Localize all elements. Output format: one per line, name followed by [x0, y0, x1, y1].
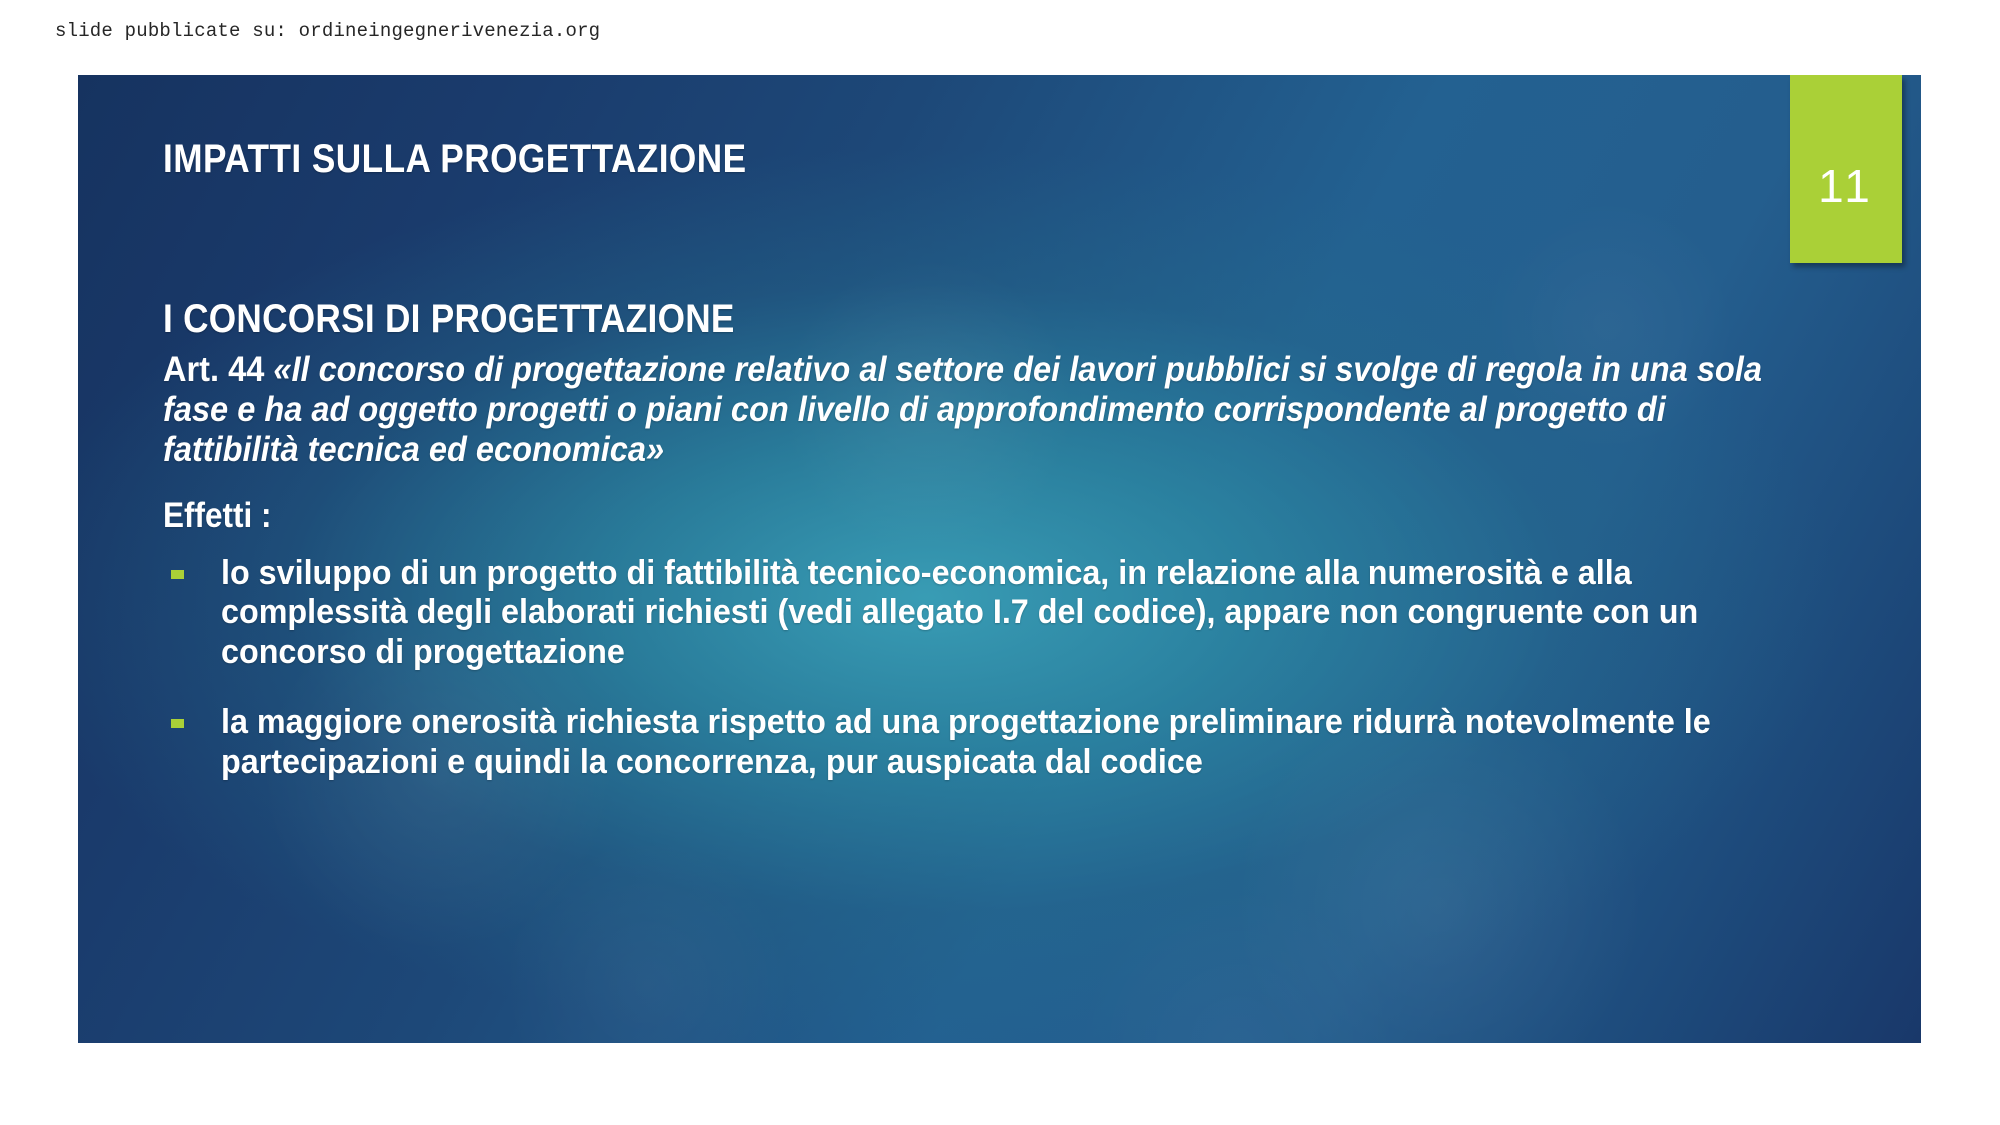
list-item-text: la maggiore onerosità richiesta rispetto…	[221, 703, 1779, 783]
bullet-square-icon	[171, 719, 184, 728]
slide-canvas: 11 IMPATTI SULLA PROGETTAZIONE I CONCORS…	[78, 75, 1921, 1043]
article-label: Art. 44	[163, 350, 273, 389]
effects-bullet-list: lo sviluppo di un progetto di fattibilit…	[163, 554, 1763, 783]
slide-title: IMPATTI SULLA PROGETTAZIONE	[163, 137, 1483, 182]
effects-label: Effetti :	[163, 496, 1603, 536]
list-item: lo sviluppo di un progetto di fattibilit…	[163, 554, 1861, 673]
article-paragraph: Art. 44 «Il concorso di progettazione re…	[163, 350, 1763, 470]
page-header-source-note: slide pubblicate su: ordineingegnerivene…	[55, 20, 600, 42]
bullet-square-icon	[171, 570, 184, 579]
list-item-text: lo sviluppo di un progetto di fattibilit…	[221, 554, 1779, 673]
article-quote: «Il concorso di progettazione relativo a…	[163, 350, 1762, 469]
slide-number-badge: 11	[1790, 75, 1902, 263]
slide-content: IMPATTI SULLA PROGETTAZIONE I CONCORSI D…	[78, 75, 1921, 1043]
section-subheading: I CONCORSI DI PROGETTAZIONE	[163, 297, 1571, 342]
slide-body: I CONCORSI DI PROGETTAZIONE Art. 44 «Il …	[163, 297, 1763, 783]
list-item: la maggiore onerosità richiesta rispetto…	[163, 703, 1861, 783]
slide-number-value: 11	[1790, 163, 1902, 209]
